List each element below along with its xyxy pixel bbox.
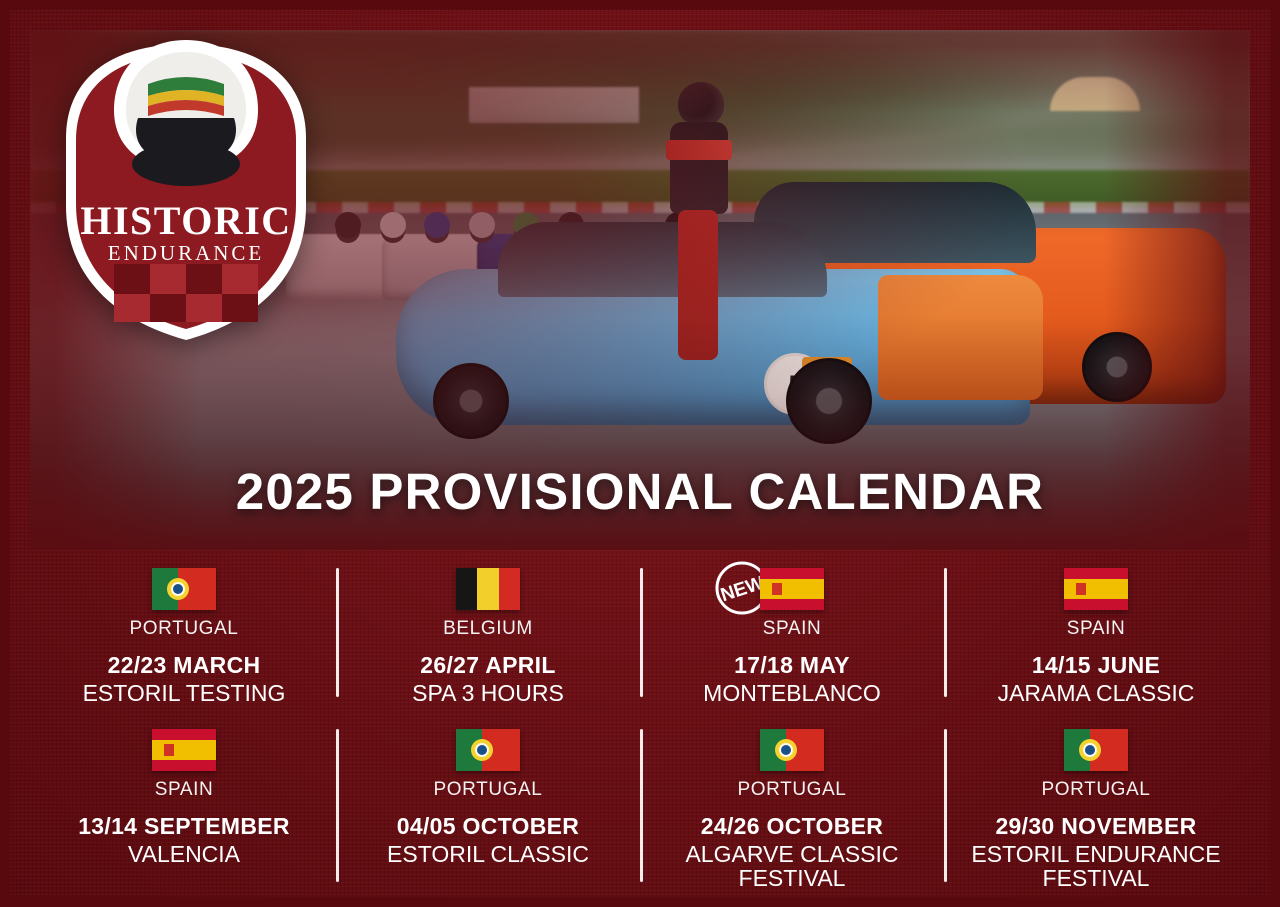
event-date: 17/18 MAY bbox=[734, 652, 850, 679]
event-date: 04/05 OCTOBER bbox=[397, 813, 579, 840]
calendar-event: PORTUGAL 29/30 NOVEMBER ESTORIL ENDURANC… bbox=[944, 713, 1248, 898]
calendar-event: NEW SPAIN 17/18 MAY MONTEBLANCO bbox=[640, 552, 944, 713]
event-name: ESTORIL ENDURANCE FESTIVAL bbox=[971, 842, 1221, 890]
flag-spain bbox=[152, 729, 216, 771]
calendar-grid: PORTUGAL 22/23 MARCH ESTORIL TESTING BEL… bbox=[32, 552, 1248, 892]
event-name: ESTORIL TESTING bbox=[83, 681, 286, 705]
flag-wrap bbox=[152, 566, 216, 612]
event-country: BELGIUM bbox=[443, 618, 533, 640]
page-title: 2025 PROVISIONAL CALENDAR bbox=[0, 462, 1280, 521]
calendar-event: SPAIN 13/14 SEPTEMBER VALENCIA bbox=[32, 713, 336, 898]
event-country: PORTUGAL bbox=[434, 779, 543, 801]
calendar-event: PORTUGAL 04/05 OCTOBER ESTORIL CLASSIC bbox=[336, 713, 640, 898]
event-date: 13/14 SEPTEMBER bbox=[78, 813, 290, 840]
flag-portugal bbox=[760, 729, 824, 771]
event-name: ALGARVE CLASSIC FESTIVAL bbox=[667, 842, 917, 890]
flag-wrap bbox=[152, 727, 216, 773]
flag-wrap: NEW bbox=[760, 566, 824, 612]
event-country: PORTUGAL bbox=[738, 779, 847, 801]
event-date: 29/30 NOVEMBER bbox=[995, 813, 1196, 840]
event-name: VALENCIA bbox=[128, 842, 240, 866]
flag-portugal bbox=[456, 729, 520, 771]
flag-wrap bbox=[1064, 727, 1128, 773]
flag-belgium bbox=[456, 568, 520, 610]
logo-name-top: HISTORIC bbox=[80, 198, 291, 243]
event-name: MONTEBLANCO bbox=[703, 681, 881, 705]
historic-endurance-logo: HISTORIC ENDURANCE bbox=[52, 18, 320, 348]
flag-portugal bbox=[1064, 729, 1128, 771]
event-country: PORTUGAL bbox=[1042, 779, 1151, 801]
flag-portugal bbox=[152, 568, 216, 610]
event-date: 26/27 APRIL bbox=[420, 652, 555, 679]
flag-wrap bbox=[456, 727, 520, 773]
event-name: JARAMA CLASSIC bbox=[998, 681, 1195, 705]
event-country: SPAIN bbox=[763, 618, 822, 640]
flag-spain bbox=[1064, 568, 1128, 610]
calendar-event: PORTUGAL 24/26 OCTOBER ALGARVE CLASSIC F… bbox=[640, 713, 944, 898]
helmet-icon bbox=[114, 40, 258, 186]
event-country: SPAIN bbox=[155, 779, 214, 801]
event-country: PORTUGAL bbox=[130, 618, 239, 640]
calendar-event: SPAIN 14/15 JUNE JARAMA CLASSIC bbox=[944, 552, 1248, 713]
flag-wrap bbox=[456, 566, 520, 612]
event-name: SPA 3 HOURS bbox=[412, 681, 564, 705]
calendar-event: PORTUGAL 22/23 MARCH ESTORIL TESTING bbox=[32, 552, 336, 713]
event-date: 22/23 MARCH bbox=[108, 652, 261, 679]
flag-spain bbox=[760, 568, 824, 610]
event-name: ESTORIL CLASSIC bbox=[387, 842, 589, 866]
flag-wrap bbox=[1064, 566, 1128, 612]
calendar-event: BELGIUM 26/27 APRIL SPA 3 HOURS bbox=[336, 552, 640, 713]
event-date: 14/15 JUNE bbox=[1032, 652, 1160, 679]
event-date: 24/26 OCTOBER bbox=[701, 813, 883, 840]
logo-name-bottom: ENDURANCE bbox=[108, 241, 265, 265]
flag-wrap bbox=[760, 727, 824, 773]
event-country: SPAIN bbox=[1067, 618, 1126, 640]
